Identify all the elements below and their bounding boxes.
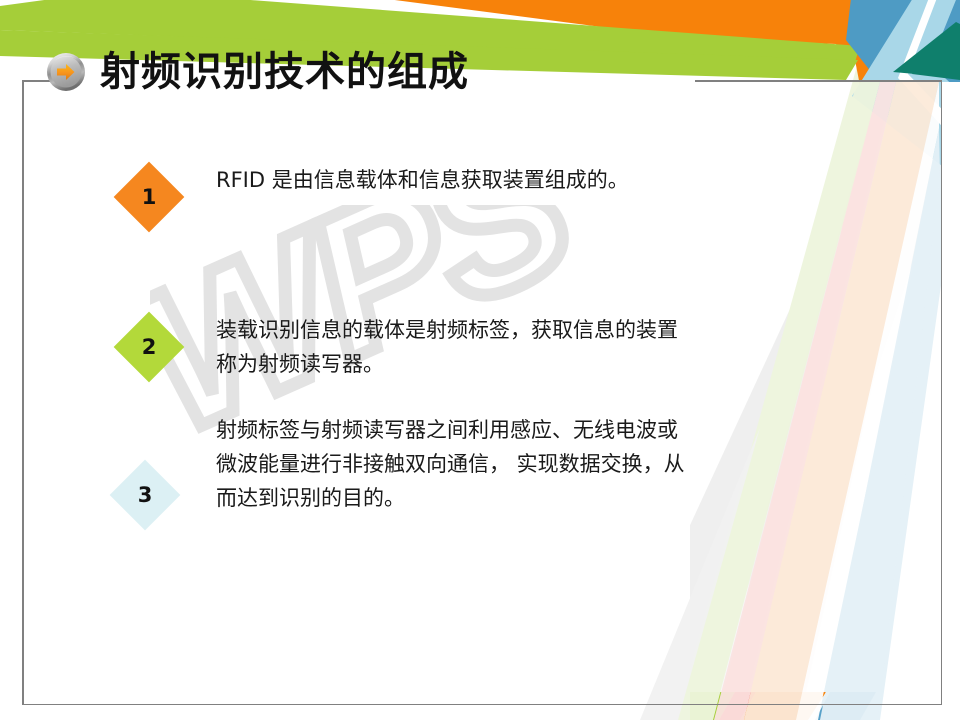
- pale-orange-band-icon: [742, 62, 942, 720]
- frame-border-left: [22, 80, 24, 705]
- frame-border-top-right: [695, 80, 941, 82]
- diamond-number-1: 1: [124, 172, 174, 222]
- inner-pale-orange-icon: [744, 82, 939, 720]
- presentation-slide: WPS: [0, 0, 960, 720]
- page-title: 射频识别技术的组成: [100, 52, 469, 92]
- bottom-green-strip-icon: [674, 692, 735, 720]
- light-blue-chevron-band-icon: [908, 0, 960, 128]
- bottom-orange-strip-icon: [740, 692, 826, 720]
- teal-dart2-icon: [912, 28, 960, 80]
- light-blue-chevron-icon: [852, 0, 960, 180]
- inner-pale-red-icon: [714, 82, 896, 720]
- diamond-number-2: 2: [124, 322, 174, 372]
- diamond-number-3: 3: [120, 470, 170, 520]
- bottom-red-strip-icon: [719, 692, 756, 720]
- inner-white-split-icon: [796, 82, 939, 720]
- bottom-blue-strip-icon: [815, 692, 876, 720]
- light-blue-chevron-inner-icon: [898, 0, 960, 146]
- frame-border-right: [941, 80, 943, 705]
- bullet-text-3: 射频标签与射频读写器之间利用感应、无线电波或微波能量进行非接触双向通信， 实现数…: [216, 413, 696, 515]
- inner-pale-green-icon: [678, 82, 880, 720]
- bottom-grey-strip-icon: [600, 692, 660, 720]
- teal-dart-icon: [893, 22, 960, 78]
- frame-border-bottom: [22, 704, 942, 706]
- pale-blue-band-icon: [818, 120, 960, 720]
- pale-grey-band-icon: [600, 60, 960, 720]
- slide-title-row: 射频识别技术的组成: [46, 44, 469, 100]
- bullet-text-2: 装载识别信息的载体是射频标签，获取信息的装置称为射频读写器。: [216, 313, 696, 381]
- bullet-text-1: RFID 是由信息载体和信息获取装置组成的。: [216, 163, 696, 197]
- blue-wedge-icon: [846, 0, 960, 122]
- pale-red-band-icon: [716, 62, 898, 720]
- pale-green-band-icon: [676, 62, 884, 720]
- pale-white-band-icon: [690, 70, 960, 720]
- outside-frame-mask-icon: [942, 82, 960, 706]
- circle-arrow-right-icon[interactable]: [46, 52, 86, 92]
- inner-pale-blue-icon: [820, 128, 940, 720]
